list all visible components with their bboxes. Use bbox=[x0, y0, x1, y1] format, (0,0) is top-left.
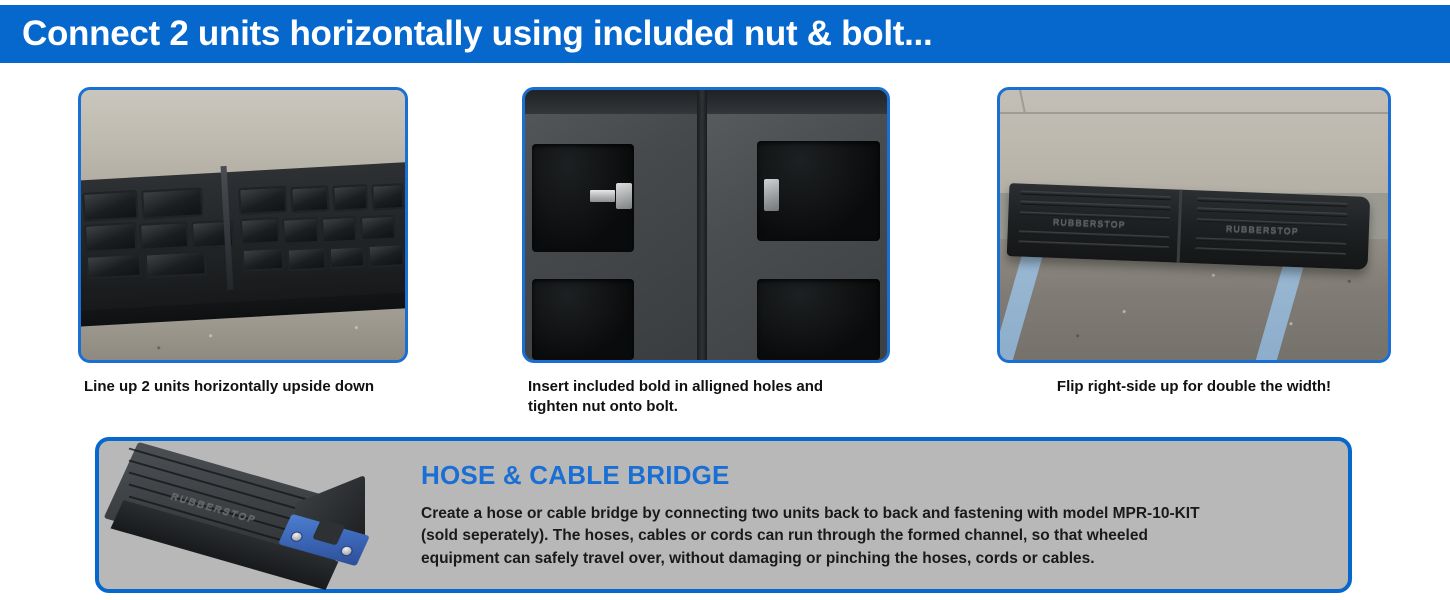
step-2-caption-line-2: tighten nut onto bolt. bbox=[528, 397, 890, 417]
step-3-caption: Flip right-side up for double the width! bbox=[997, 377, 1391, 397]
steps-row: Line up 2 units horizontally upside down… bbox=[0, 87, 1450, 427]
step-3: RUBBERSTOP RUBBERSTOP Flip right-side up… bbox=[997, 87, 1391, 397]
info-body-line-3: equipment can safely travel over, withou… bbox=[421, 548, 1326, 570]
hose-cable-bridge-panel: RUBBERSTOP HOSE & CABLE BRIDGE Create a … bbox=[95, 437, 1352, 593]
ramp-cell-grid bbox=[81, 173, 405, 272]
page-title: Connect 2 units horizontally using inclu… bbox=[0, 14, 932, 54]
concrete-sidewalk bbox=[1000, 90, 1388, 193]
cell-opening bbox=[757, 279, 880, 360]
info-panel-heading: HOSE & CABLE BRIDGE bbox=[421, 460, 1326, 491]
info-body-line-1: Create a hose or cable bridge by connect… bbox=[421, 503, 1326, 525]
joined-ramp-units: RUBBERSTOP RUBBERSTOP bbox=[1006, 183, 1369, 270]
step-1-caption: Line up 2 units horizontally upside down bbox=[78, 377, 408, 397]
bolt-head bbox=[616, 183, 633, 209]
header-banner: Connect 2 units horizontally using inclu… bbox=[0, 5, 1450, 63]
ramp-emboss-right: RUBBERSTOP bbox=[1231, 224, 1293, 236]
step-3-photo: RUBBERSTOP RUBBERSTOP bbox=[997, 87, 1391, 363]
step-2-photo-artwork bbox=[525, 90, 887, 360]
info-body-line-2: (sold seperately). The hoses, cables or … bbox=[421, 525, 1326, 547]
ramp-seam bbox=[1176, 190, 1182, 263]
step-1-photo bbox=[78, 87, 408, 363]
step-2: Insert included bold in alligned holes a… bbox=[522, 87, 890, 418]
step-2-photo bbox=[522, 87, 890, 363]
unit-gap bbox=[697, 90, 707, 360]
step-3-photo-artwork: RUBBERSTOP RUBBERSTOP bbox=[1000, 90, 1388, 360]
nut bbox=[764, 179, 779, 211]
step-1-photo-artwork bbox=[81, 90, 405, 360]
info-panel-body: Create a hose or cable bridge by connect… bbox=[421, 503, 1326, 570]
product-render: RUBBERSTOP bbox=[99, 445, 399, 585]
ramp-emboss-left: RUBBERSTOP bbox=[1058, 217, 1120, 229]
cell-opening bbox=[532, 279, 633, 360]
step-2-caption: Insert included bold in alligned holes a… bbox=[522, 377, 890, 418]
bolt-shaft bbox=[590, 190, 615, 202]
step-2-caption-line-1: Insert included bold in alligned holes a… bbox=[528, 377, 890, 397]
info-panel-text: HOSE & CABLE BRIDGE Create a hose or cab… bbox=[399, 460, 1348, 570]
step-1: Line up 2 units horizontally upside down bbox=[78, 87, 408, 397]
